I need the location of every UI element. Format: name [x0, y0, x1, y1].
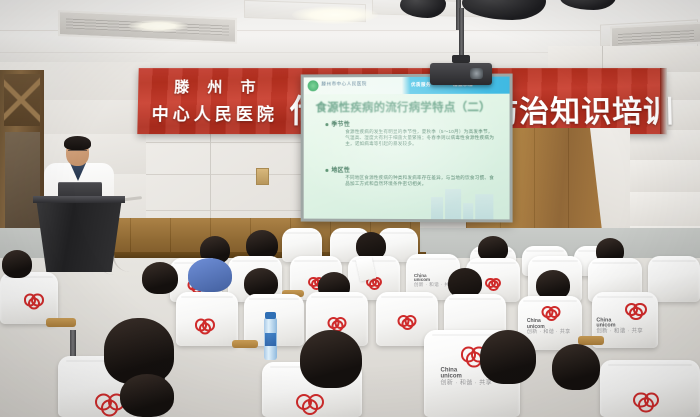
- audience-head: [480, 330, 536, 384]
- chair[interactable]: [600, 360, 700, 417]
- banner-line-1: 滕 州 市: [174, 76, 263, 97]
- podium: [36, 198, 122, 272]
- slide-decor-building: [463, 203, 473, 219]
- projector-mount: [452, 55, 470, 63]
- ceiling-light: [128, 20, 188, 32]
- presenter-hair: [64, 136, 91, 150]
- chair[interactable]: [648, 256, 700, 302]
- armrest: [232, 340, 258, 348]
- audience-head: [142, 262, 178, 294]
- audience-head: [120, 374, 174, 417]
- bullet-marker: [325, 169, 327, 171]
- china-unicom-logo-icon: [24, 293, 44, 306]
- china-unicom-logo-icon: [398, 314, 417, 326]
- lecture-hall-photo: 滕 州 市 中心人民医院 传 防治知识培训 滕州市中心人民医院 优质服务 精益求…: [0, 0, 700, 417]
- audience-head: [300, 330, 362, 388]
- wall-switch[interactable]: [256, 168, 269, 185]
- slide-title: 食源性疾病的流行病学特点（二）: [316, 99, 491, 115]
- chair[interactable]: [176, 292, 238, 346]
- china-unicom-logo-icon: [633, 391, 659, 408]
- slide-decor-building: [445, 189, 461, 219]
- hospital-logo-icon: [308, 80, 319, 91]
- slide-decor-building: [431, 197, 443, 219]
- audience-head: [552, 344, 600, 390]
- brand-slogan: 创新 · 和谐 · 共享: [441, 380, 492, 386]
- china-unicom-logo-icon: [625, 302, 647, 316]
- bullet-heading-2: 地区性: [331, 165, 350, 174]
- eyeglasses-icon: [68, 150, 87, 155]
- blue-surgical-cap: [188, 258, 232, 292]
- bullet-marker: [325, 123, 327, 125]
- bottle-cap: [265, 312, 276, 319]
- slide-decor-building: [475, 194, 493, 219]
- bullet-heading-1: 季节性: [331, 119, 350, 128]
- podium-top: [33, 196, 125, 203]
- water-bottle[interactable]: [264, 318, 277, 360]
- projector-mount-rod: [459, 8, 464, 58]
- chair[interactable]: [0, 272, 58, 324]
- bullet-body-2: 不同地区食源性疾病的种类和发病率存在差异，与当地的饮食习惯、食品加工方式和自然环…: [345, 175, 495, 188]
- bullet-body-1: 食源性疾病的发生有明显的季节性，夏秋季（5～10月）为高发季节，气温高、湿度大有…: [345, 129, 495, 148]
- slide-hospital-name: 滕州市中心人民医院: [321, 81, 367, 87]
- banner-title-part-2: 防治知识培训: [488, 87, 675, 131]
- audience-head: [2, 250, 32, 278]
- ceiling-light: [292, 6, 378, 24]
- projection-screen-frame: 滕州市中心人民医院 优质服务 精益求精 食源性疾病的流行病学特点（二） 季节性 …: [301, 74, 513, 223]
- slide-tag-left: 优质服务: [411, 82, 431, 88]
- door-top-panel: [4, 74, 40, 126]
- projector-lens: [470, 68, 483, 79]
- banner-line-2: 中心人民医院: [152, 100, 279, 125]
- china-unicom-logo-icon: [328, 316, 347, 328]
- china-unicom-logo-icon: [485, 277, 501, 287]
- air-conditioning-vent-right: [610, 22, 700, 49]
- brand-slogan: 创新 · 和谐 · 共享: [527, 330, 571, 335]
- china-unicom-logo-icon: [542, 305, 561, 317]
- brand-slogan: 创新 · 和谐 · 共享: [596, 330, 643, 336]
- projection-screen: 滕州市中心人民医院 优质服务 精益求精 食源性疾病的流行病学特点（二） 季节性 …: [304, 77, 510, 220]
- china-unicom-logo-icon: [296, 393, 324, 411]
- china-unicom-wordmark: China unicom 创新 · 和谐 · 共享: [596, 318, 643, 335]
- china-unicom-wordmark: China unicom 创新 · 和谐 · 共享: [527, 319, 571, 335]
- armrest: [46, 318, 76, 327]
- armrest: [578, 336, 604, 345]
- projector: [430, 63, 492, 85]
- banner-right-edge: [660, 68, 667, 134]
- china-unicom-logo-icon: [195, 318, 215, 331]
